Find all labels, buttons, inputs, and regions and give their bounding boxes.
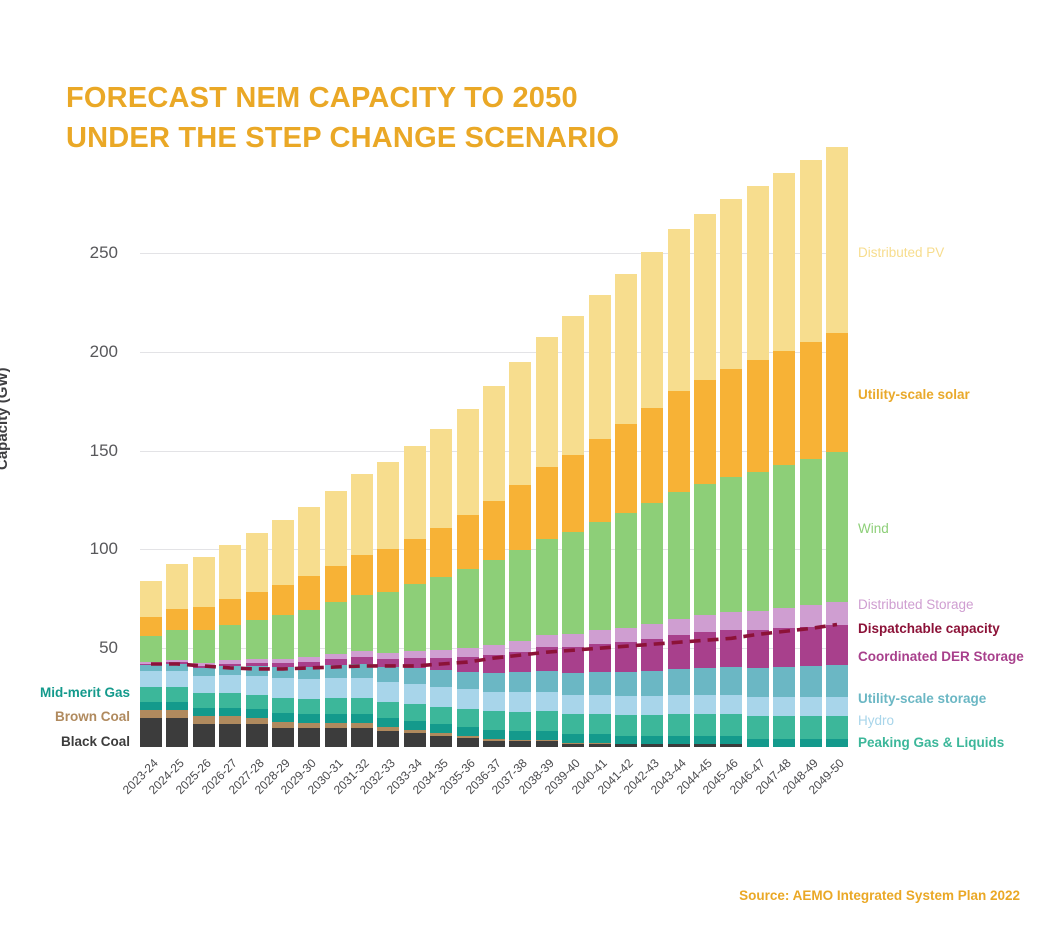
chart-title-line-2: UNDER THE STEP CHANGE SCENARIO: [66, 118, 786, 158]
y-axis-tick-label: 50: [48, 638, 118, 658]
legend-item-hydro[interactable]: Hydro: [858, 713, 894, 728]
plot-area: [140, 168, 848, 747]
legend-item-brown-coal[interactable]: Brown Coal: [18, 709, 130, 724]
chart-title: FORECAST NEM CAPACITY TO 2050 UNDER THE …: [66, 78, 786, 158]
legend-item-dispatchable-capacity[interactable]: Dispatchable capacity: [858, 621, 1000, 636]
legend-item-utility-scale-solar[interactable]: Utility-scale solar: [858, 387, 970, 402]
legend-item-black-coal[interactable]: Black Coal: [18, 734, 130, 749]
legend-item-mid-merit-gas[interactable]: Mid-merit Gas: [18, 685, 130, 700]
legend-item-peaking-gas-liquids[interactable]: Peaking Gas & Liquids: [858, 735, 1004, 750]
chart-title-line-1: FORECAST NEM CAPACITY TO 2050: [66, 78, 786, 118]
legend-item-coordinated-der-storage[interactable]: Coordinated DER Storage: [858, 649, 1024, 664]
y-axis-tick-label: 200: [48, 342, 118, 362]
x-axis-tick-labels: 2023-242024-252025-262026-272027-282028-…: [140, 752, 860, 842]
dispatchable-capacity-line: [140, 168, 848, 747]
y-axis-tick-labels: 50100150200250: [30, 168, 118, 747]
y-axis-tick-label: 150: [48, 441, 118, 461]
legend-item-utility-scale-storage[interactable]: Utility-scale storage: [858, 691, 986, 706]
y-axis-title: Capacity (GW): [0, 367, 11, 470]
source-note: Source: AEMO Integrated System Plan 2022: [739, 888, 1020, 903]
chart-container: FORECAST NEM CAPACITY TO 2050 UNDER THE …: [0, 0, 1060, 947]
legend-item-distributed-storage[interactable]: Distributed Storage: [858, 597, 974, 612]
legend-item-wind[interactable]: Wind: [858, 521, 889, 536]
y-axis-tick-label: 250: [48, 243, 118, 263]
legend-item-distributed-pv[interactable]: Distributed PV: [858, 245, 944, 260]
y-axis-tick-label: 100: [48, 539, 118, 559]
